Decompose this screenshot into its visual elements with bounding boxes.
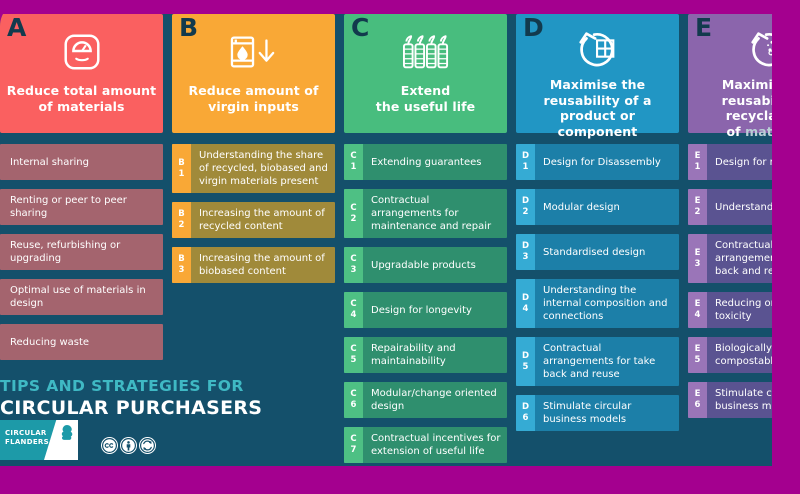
strategy-row-tag-number: 2 [351,214,357,225]
circular-flanders-logo: CIRCULAR FLANDERS [0,420,78,460]
strategy-row[interactable]: D6Stimulate circular business models [516,395,679,431]
strategy-row[interactable]: A2Renting or peer to peer sharing [0,189,163,225]
strategy-row[interactable]: D1Design for Disassembly [516,144,679,180]
strategy-row-tag: E4 [688,292,707,328]
column-a-heading-line2: of materials [38,99,124,114]
column-d-heading-line2: reusability of a [543,93,651,108]
strategy-row-tag: B3 [172,247,191,283]
strategy-row-tag-letter: D [522,241,529,252]
strategy-row-label: Design for recycling [707,144,772,180]
column-b-heading: Reduce amount of virgin inputs [183,83,325,114]
strategy-row-tag-letter: E [695,299,701,310]
column-e: E [688,14,772,466]
strategy-row-tag: C6 [344,382,363,418]
strategy-row[interactable]: C4Design for longevity [344,292,507,328]
strategy-row-tag-letter: E [695,344,701,355]
strategy-row-tag: C4 [344,292,363,328]
strategy-row-tag-letter: C [350,203,356,214]
column-a-heading: Reduce total amount of materials [1,83,163,114]
column-e-heading-line1: Maximise the [722,77,772,92]
strategy-row-label: Design for longevity [363,292,507,328]
column-d-letter: D [523,15,544,40]
column-c-items: C1Extending guaranteesC2Contractual arra… [344,144,507,466]
column-d-items: D1Design for DisassemblyD2Modular design… [516,144,679,431]
strategy-board: A Reduce total amount of materials [0,14,772,466]
strategy-row-label: Renting or peer to peer sharing [0,189,163,225]
strategy-row-label: Contractual arrangements for maintenance… [363,189,507,238]
column-e-heading: Maximise the reusability or recyclabilit… [688,77,772,140]
strategy-row[interactable]: E3Contractual arrangements for take back… [688,234,772,283]
strategy-row-tag-letter: D [522,351,529,362]
poster-root: A Reduce total amount of materials [0,0,800,494]
strategy-row-tag: E5 [688,337,707,373]
strategy-row[interactable]: D5Contractual arrangements for take back… [516,337,679,386]
column-a-heading-line1: Reduce total amount [7,83,157,98]
strategy-row-label: Understanding the share of recycled, bio… [191,144,335,193]
column-d-header: D Maximise the reusability of a product … [516,14,679,133]
column-d-heading-line3: product or component [558,108,638,139]
strategy-row-tag: D1 [516,144,535,180]
strategy-row-tag-letter: D [522,293,529,304]
strategy-row-tag-number: 1 [695,162,701,173]
strategy-row-label: Reuse, refurbishing or upgrading [0,234,163,270]
strategy-row-tag: C3 [344,247,363,283]
strategy-row-label: Standardised design [535,234,679,270]
strategy-row[interactable]: E6Stimulate circular business models [688,382,772,418]
strategy-row-label: Modular/change oriented design [363,382,507,418]
strategy-row[interactable]: C5Repairability and maintainability [344,337,507,373]
column-b-items: B1Understanding the share of recycled, b… [172,144,335,283]
column-a-items: A1Internal sharingA2Renting or peer to p… [0,144,163,360]
strategy-row-tag-number: 5 [695,355,701,366]
poster-title-line2: CIRCULAR PURCHASERS [0,398,300,420]
strategy-row-tag-number: 2 [695,207,701,218]
strategy-row-tag: C2 [344,189,363,238]
strategy-row-label: Biologically degradable / compostable [707,337,772,373]
column-e-heading-highlight: materials [745,124,772,139]
column-b-heading-line2: virgin inputs [208,99,299,114]
strategy-row-label: Increasing the amount of biobased conten… [191,247,335,283]
strategy-row-tag-number: 1 [179,169,185,180]
strategy-row-tag-letter: E [695,196,701,207]
strategy-row-tag: B1 [172,144,191,193]
strategy-row[interactable]: E5Biologically degradable / compostable [688,337,772,373]
strategy-row-tag: E1 [688,144,707,180]
column-e-header: E [688,14,772,133]
column-c-letter: C [351,15,369,40]
strategy-row-tag-number: 3 [523,252,529,263]
strategy-row[interactable]: E1Design for recycling [688,144,772,180]
strategy-row-tag-letter: B [178,158,184,169]
strategy-row-tag-number: 6 [351,400,357,411]
strategy-row-tag: D2 [516,189,535,225]
strategy-row-tag: B2 [172,202,191,238]
strategy-row-tag-number: 4 [351,310,357,321]
column-c-heading: Extend the useful life [370,83,481,114]
cc-by-glyph [121,438,136,453]
strategy-row-tag-letter: C [350,254,356,265]
strategy-row-label: Internal sharing [0,144,163,180]
strategy-row-label: Increasing the amount of recycled conten… [191,202,335,238]
strategy-row[interactable]: B3Increasing the amount of biobased cont… [172,247,335,283]
circular-arrow-product-icon [572,26,624,72]
column-e-items: E1Design for recyclingE2Understanding ma… [688,144,772,418]
strategy-row-tag-letter: C [350,151,356,162]
strategy-row-label: Contractual incentives for extension of … [363,427,507,463]
strategy-row-tag-number: 1 [523,162,529,173]
column-d: D Maximise the reusability of a product … [516,14,679,466]
strategy-row-tag-letter: B [178,209,184,220]
strategy-row-tag: C5 [344,337,363,373]
flanders-lion-emblem-icon [60,424,75,441]
strategy-row-tag-letter: D [522,196,529,207]
strategy-row[interactable]: B2Increasing the amount of recycled cont… [172,202,335,238]
strategy-row[interactable]: A3Reuse, refurbishing or upgrading [0,234,163,270]
logo-line1: CIRCULAR [5,429,49,438]
column-e-heading-line3: of [726,124,745,139]
strategy-row-tag-number: 4 [695,310,701,321]
strategy-row-label: Reducing waste [0,324,163,360]
strategy-row-tag-number: 3 [351,265,357,276]
column-e-heading-line2: reusability or recyclability [722,93,772,124]
column-d-heading: Maximise the reusability of a product or… [516,77,679,140]
strategy-row-tag-letter: E [695,248,701,259]
column-c-heading-line2: the useful life [376,99,475,114]
strategy-row-tag: D5 [516,337,535,386]
strategy-row-label: Understanding materials [707,189,772,225]
strategy-row-tag-number: 2 [179,220,185,231]
column-d-heading-line1: Maximise the [550,77,645,92]
strategy-row-label: Upgradable products [363,247,507,283]
cc-sa-glyph [140,438,155,453]
strategy-row[interactable]: C7Contractual incentives for extension o… [344,427,507,463]
creative-commons-badges [101,437,156,454]
strategy-row-label: Reducing or banning toxicity [707,292,772,328]
column-b-heading-line1: Reduce amount of [189,83,319,98]
strategy-row-tag-letter: C [350,389,356,400]
poster-title: TIPS AND STRATEGIES FOR CIRCULAR PURCHAS… [0,378,300,420]
strategy-row-label: Extending guarantees [363,144,507,180]
column-b-header: B Reduce amount of virgin i [172,14,335,133]
strategy-row-label: Repairability and maintainability [363,337,507,373]
strategy-row[interactable]: D4Understanding the internal composition… [516,279,679,328]
strategy-row-tag: C7 [344,427,363,463]
strategy-row[interactable]: A1Internal sharing [0,144,163,180]
strategy-row-tag: D3 [516,234,535,270]
strategy-row[interactable]: E4Reducing or banning toxicity [688,292,772,328]
strategy-row-label: Optimal use of materials in design [0,279,163,315]
strategy-row-tag-number: 1 [351,162,357,173]
column-a-letter: A [7,15,26,40]
strategy-row-tag: D6 [516,395,535,431]
oil-barrel-down-arrow-icon [223,26,285,78]
column-c-heading-line1: Extend [401,83,451,98]
column-c: C [344,14,507,466]
strategy-row-tag-number: 5 [523,362,529,373]
strategy-row-tag-number: 3 [179,265,185,276]
strategy-row-tag-letter: C [350,344,356,355]
strategy-row-tag-number: 6 [523,413,529,424]
column-e-letter: E [695,15,712,40]
strategy-row-tag-letter: B [178,254,184,265]
strategy-row[interactable]: C6Modular/change oriented design [344,382,507,418]
strategy-row-label: Design for Disassembly [535,144,679,180]
strategy-row[interactable]: A4Optimal use of materials in design [0,279,163,315]
strategy-row-label: Contractual arrangements for take back a… [707,234,772,283]
strategy-row-tag: E6 [688,382,707,418]
strategy-row-label: Understanding the internal composition a… [535,279,679,328]
strategy-row[interactable]: B1Understanding the share of recycled, b… [172,144,335,193]
strategy-row-tag: C1 [344,144,363,180]
circular-arrow-particles-icon [744,26,773,72]
strategy-row-tag-number: 3 [695,259,701,270]
strategy-row-tag: E3 [688,234,707,283]
strategy-row-tag-letter: D [522,151,529,162]
strategy-row[interactable]: D3Standardised design [516,234,679,270]
strategy-row[interactable]: C1Extending guarantees [344,144,507,180]
strategy-row-label: Stimulate circular business models [535,395,679,431]
strategy-row-tag-number: 4 [523,304,529,315]
cc-icon [101,437,118,454]
strategy-row-tag-number: 6 [695,400,701,411]
weighing-scale-icon [59,26,105,78]
candles-icon [398,26,454,78]
strategy-row-tag: E2 [688,189,707,225]
strategy-row-label: Modular design [535,189,679,225]
cc-by-icon [120,437,137,454]
strategy-row[interactable]: C2Contractual arrangements for maintenan… [344,189,507,238]
strategy-row-label: Contractual arrangements for take back a… [535,337,679,386]
strategy-row-tag-number: 7 [351,445,357,456]
cc-glyph [102,438,117,453]
strategy-row-tag-letter: C [350,299,356,310]
column-b-letter: B [179,15,198,40]
poster-title-line1: TIPS AND STRATEGIES FOR [0,378,300,396]
strategy-row-tag: D4 [516,279,535,328]
logo-text: CIRCULAR FLANDERS [5,429,49,448]
strategy-row[interactable]: E2Understanding materials [688,189,772,225]
column-c-header: C [344,14,507,133]
strategy-row-tag-letter: E [695,389,701,400]
strategy-row-tag-letter: C [350,434,356,445]
strategy-row-label: Stimulate circular business models [707,382,772,418]
logo-line2: FLANDERS [5,438,49,447]
strategy-row[interactable]: A5Reducing waste [0,324,163,360]
cc-sa-icon [139,437,156,454]
logo-wedge [44,420,78,460]
strategy-row[interactable]: C3Upgradable products [344,247,507,283]
strategy-row-tag-number: 5 [351,355,357,366]
strategy-row-tag-letter: D [522,402,529,413]
strategy-row[interactable]: D2Modular design [516,189,679,225]
strategy-row-tag-number: 2 [523,207,529,218]
strategy-row-tag-letter: E [695,151,701,162]
column-a-header: A Reduce total amount of materials [0,14,163,133]
